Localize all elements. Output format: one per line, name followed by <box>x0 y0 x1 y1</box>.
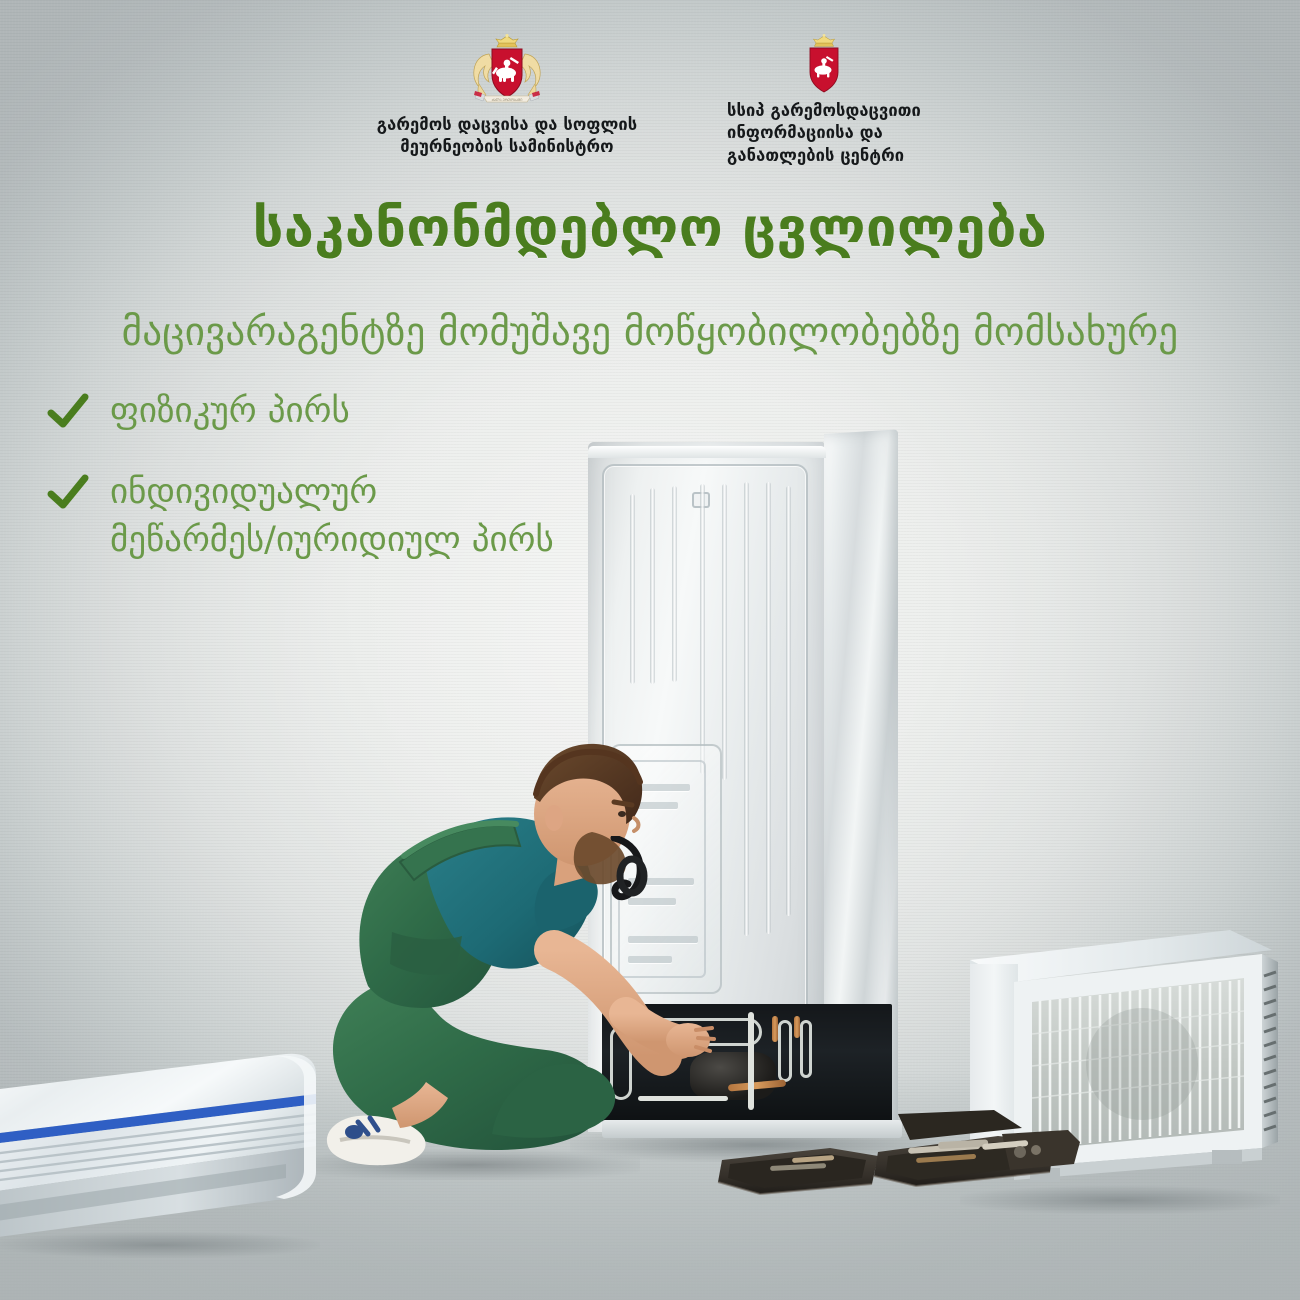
check-icon <box>46 390 90 434</box>
page-subtitle-text: მაცივარაგენტზე მომუშავე მოწყობილობებზე მ… <box>122 310 1179 355</box>
org-ministry: ᲫᲐᲚᲐ ᲔᲠᲗᲝᲑᲐᲨᲘ გარემოს დაცვისა და სოფლის … <box>361 34 653 159</box>
list-item-label: ინდივიდუალურ მეწარმეს/იურიდიულ პირს <box>110 469 554 564</box>
list-item: ინდივიდუალურ მეწარმეს/იურიდიულ პირს <box>46 469 554 564</box>
refrigerator-rib <box>766 482 771 934</box>
condenser-coil <box>800 1020 812 1078</box>
check-icon <box>46 471 90 515</box>
org-center: სსიპ გარემოსდაცვითი ინფორმაციისა და განა… <box>709 34 939 167</box>
list-item-label: ფიზიკურ პირს <box>110 388 350 435</box>
open-tool-box-icon <box>702 1108 1082 1204</box>
header: ᲫᲐᲚᲐ ᲔᲠᲗᲝᲑᲐᲨᲘ გარემოს დაცვისა და სოფლის … <box>0 34 1300 167</box>
list-item: ფიზიკურ პირს <box>46 388 554 435</box>
refrigerator-rib <box>786 486 791 916</box>
split-air-conditioner-indoor-unit-icon <box>0 1044 336 1264</box>
refrigerant-hose-icon <box>608 836 654 908</box>
refrigerator-rib <box>722 484 727 780</box>
refrigerator-top-edge <box>588 446 826 458</box>
page-title-text: საკანონმდებლო ცვლილება <box>253 196 1048 259</box>
georgia-coat-of-arms-full-icon: ᲫᲐᲚᲐ ᲔᲠᲗᲝᲑᲐᲨᲘ <box>459 34 555 108</box>
refrigerator-rib <box>630 494 635 684</box>
svg-text:ᲫᲐᲚᲐ ᲔᲠᲗᲝᲑᲐᲨᲘ: ᲫᲐᲚᲐ ᲔᲠᲗᲝᲑᲐᲨᲘ <box>492 98 523 102</box>
refrigerator-rib <box>700 484 705 774</box>
refrigerator-rib <box>650 488 655 684</box>
copper-pipe <box>794 1016 800 1038</box>
page-subtitle: მაცივარაგენტზე მომუშავე მოწყობილობებზე მ… <box>0 310 1300 355</box>
page-title: საკანონმდებლო ცვლილება <box>0 196 1300 259</box>
refrigerator-rib <box>672 486 677 682</box>
refrigerator-rib <box>744 482 749 936</box>
copper-pipe <box>772 1016 778 1042</box>
org-ministry-name: გარემოს დაცვისა და სოფლის მეურნეობის სამ… <box>377 114 638 159</box>
poster-canvas: ᲫᲐᲚᲐ ᲔᲠᲗᲝᲑᲐᲨᲘ გარემოს დაცვისა და სოფლის … <box>0 0 1300 1300</box>
bullet-list: ფიზიკურ პირს ინდივიდუალურ მეწარმეს/იურიდ… <box>46 388 554 564</box>
condenser-coil <box>778 1020 792 1082</box>
refrigerant-tube <box>748 1012 754 1110</box>
org-center-name: სსიპ გარემოსდაცვითი ინფორმაციისა და განა… <box>727 100 921 167</box>
technician-kneeling-green-overalls-icon <box>296 736 716 1196</box>
georgia-shield-crown-icon <box>802 34 846 96</box>
